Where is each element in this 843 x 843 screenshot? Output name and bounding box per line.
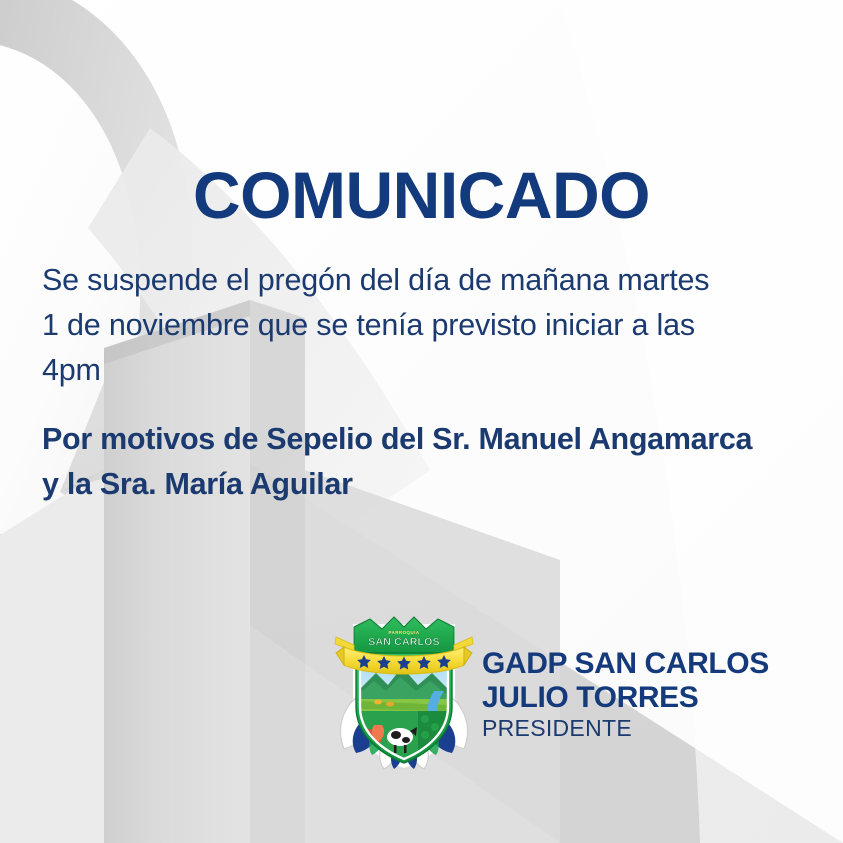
official-role: PRESIDENTE <box>482 715 822 741</box>
page-title: COMUNICADO <box>0 162 843 228</box>
signature-block: PARROQUIA SAN CARLOS GADP SAN CARLOS JUL… <box>330 603 830 773</box>
announcement-paragraph-1: Se suspende el pregón del día de mañana … <box>42 258 814 393</box>
paragraph-line: Se suspende el pregón del día de mañana … <box>42 258 814 303</box>
paragraph-line: 1 de noviembre que se tenía previsto ini… <box>42 303 814 348</box>
signature-text: GADP SAN CARLOS JULIO TORRES PRESIDENTE <box>482 647 822 741</box>
crest-banner-small-text: PARROQUIA <box>388 630 419 635</box>
paragraph-line: 4pm <box>42 348 814 393</box>
paragraph-line: Por motivos de Sepelio del Sr. Manuel An… <box>42 417 814 462</box>
crest-banner-text: SAN CARLOS <box>368 636 439 648</box>
comunicado-poster: COMUNICADO Se suspende el pregón del día… <box>0 0 843 843</box>
official-name: JULIO TORRES <box>482 681 822 715</box>
organization-name: GADP SAN CARLOS <box>482 647 822 681</box>
coat-of-arms-icon: PARROQUIA SAN CARLOS <box>330 603 478 771</box>
announcement-paragraph-2: Por motivos de Sepelio del Sr. Manuel An… <box>42 417 814 507</box>
paragraph-line: y la Sra. María Aguilar <box>42 462 814 507</box>
